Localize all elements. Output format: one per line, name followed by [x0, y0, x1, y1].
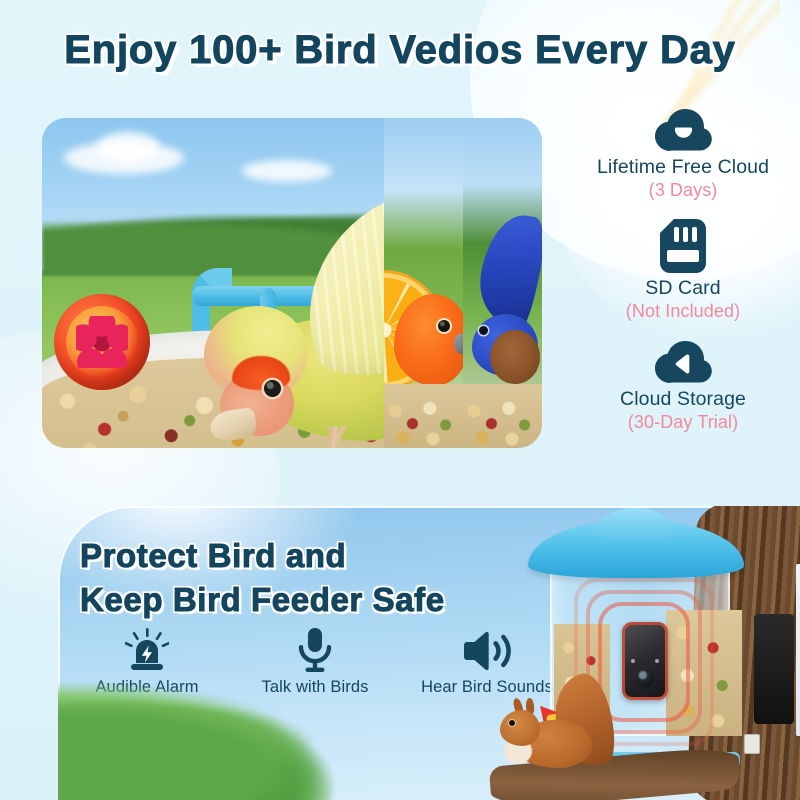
feature-title: Cloud Storage [565, 388, 800, 411]
blue-bird-eye [479, 326, 488, 335]
cloud-smile-icon [654, 108, 712, 152]
page-title: Enjoy 100+ Bird Vedios Every Day [0, 28, 800, 73]
blue-bird-breast [490, 330, 540, 384]
feeder-roof-cap [596, 508, 674, 538]
product-infographic: Enjoy 100+ Bird Vedios Every Day [0, 0, 800, 800]
bird-foot [310, 426, 358, 448]
bird-eye [264, 380, 281, 397]
bird-head [204, 306, 308, 398]
cloud-playback-icon [654, 340, 712, 384]
feature-title: Lifetime Free Cloud [565, 156, 800, 179]
collage-seed-mix [463, 384, 542, 448]
bottom-title-line1: Protect Bird and [80, 537, 346, 574]
feature-subtitle: (Not Included) [565, 301, 800, 322]
toy-flower-petals [76, 316, 128, 368]
feeder-mount-strap [754, 614, 794, 724]
cloud-shape [242, 160, 332, 182]
camera-sensor-dot [655, 659, 659, 663]
flower-feeder-toy [54, 294, 150, 390]
feature-sd-card: SD Card (Not Included) [565, 219, 800, 322]
bird-forehead-patch [232, 356, 290, 390]
bird-beak [208, 407, 258, 443]
collage-seed-mix [384, 384, 463, 448]
hero-photo [42, 118, 542, 448]
collage-panel-orange-parrot [384, 118, 463, 448]
bottom-title: Protect Bird and Keep Bird Feeder Safe [80, 534, 445, 621]
camera-sensor-dot [631, 659, 635, 663]
blue-bird-wing [474, 210, 542, 330]
alarm-siren-icon [125, 628, 169, 672]
feature-label: Talk with Birds [236, 678, 394, 697]
product-scene [470, 506, 800, 800]
microphone-icon [297, 628, 333, 672]
product-label-sticker [744, 734, 760, 754]
feature-lifetime-free-cloud: Lifetime Free Cloud (3 Days) [565, 108, 800, 201]
feature-label: Audible Alarm [58, 678, 236, 697]
feature-cloud-storage: Cloud Storage (30-Day Trial) [565, 340, 800, 433]
feature-title: SD Card [565, 277, 800, 300]
squirrel-eye [509, 720, 515, 726]
tree-foliage-decoration [58, 680, 386, 800]
storage-feature-list: Lifetime Free Cloud (3 Days) SD Card (No… [565, 108, 800, 451]
feature-subtitle: (30-Day Trial) [565, 412, 800, 433]
feature-subtitle: (3 Days) [565, 180, 800, 201]
bottom-title-line2: Keep Bird Feeder Safe [80, 581, 445, 618]
feature-talk-with-birds: Talk with Birds [236, 628, 394, 697]
feeder-back-panel [796, 564, 800, 736]
feature-audible-alarm: Audible Alarm [58, 628, 236, 697]
squirrel-head [500, 710, 540, 746]
squirrel [500, 676, 630, 772]
collage-panel-blue-bird [463, 118, 542, 448]
bottom-panel: Protect Bird and Keep Bird Feeder Safe [58, 506, 800, 800]
sd-card-icon [660, 219, 706, 273]
cloud-shape [97, 132, 159, 162]
sun-conure-eye [438, 320, 450, 332]
camera-lens [636, 669, 654, 687]
collage-strip [384, 118, 542, 448]
sun-conure-beak [454, 334, 463, 354]
